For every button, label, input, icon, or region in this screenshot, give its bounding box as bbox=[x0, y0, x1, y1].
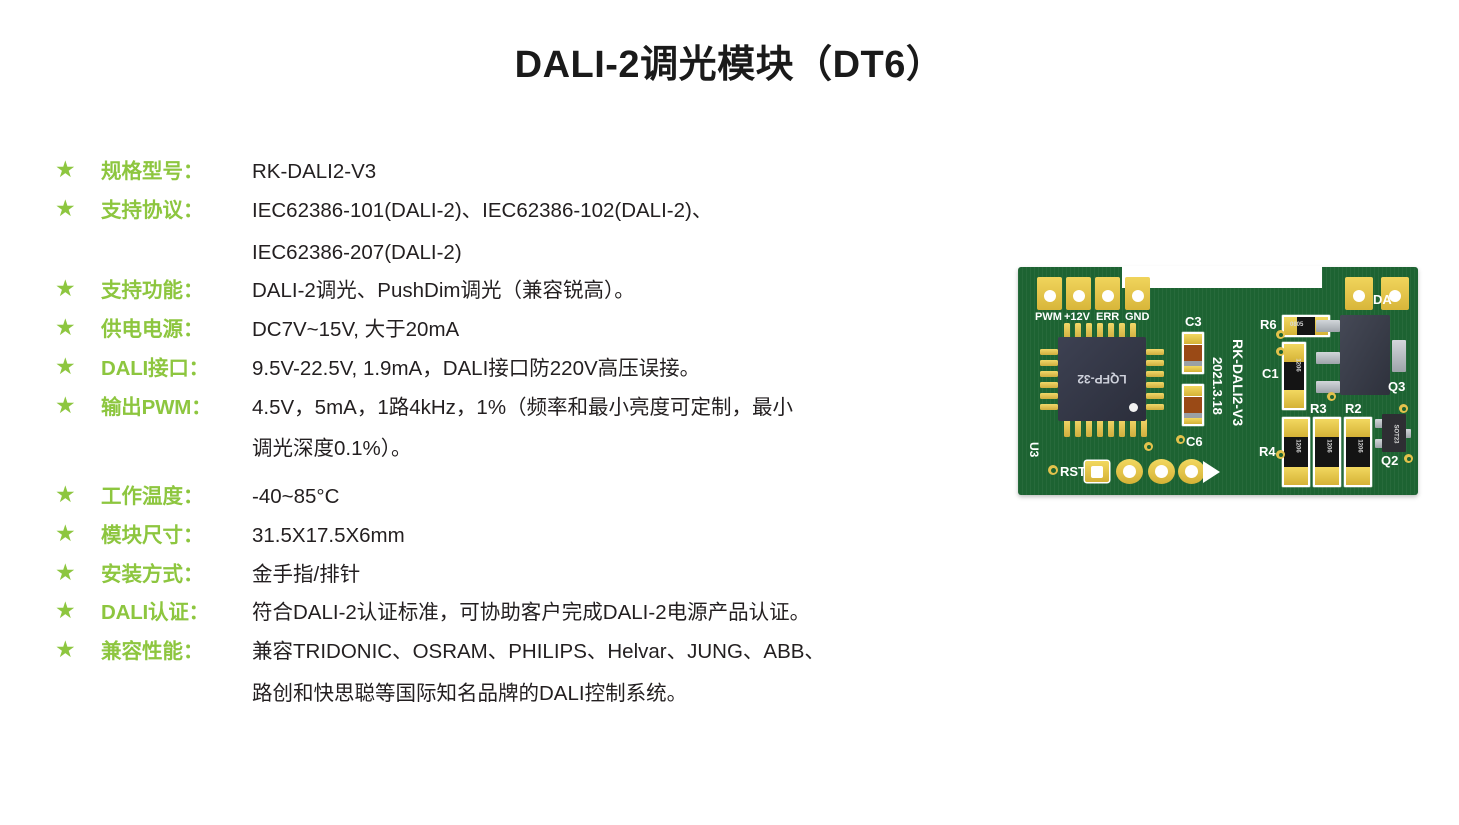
spec-value-line: IEC62386-101(DALI-2)、IEC62386-102(DALI-2… bbox=[252, 195, 1015, 227]
test-point-hole bbox=[1155, 465, 1168, 478]
pad-da-1 bbox=[1345, 277, 1373, 310]
component-pad bbox=[1315, 467, 1339, 485]
component-c1 bbox=[1282, 342, 1306, 410]
via bbox=[1327, 392, 1336, 401]
bullet-cell: ★ bbox=[55, 156, 101, 182]
component-pad bbox=[1284, 467, 1308, 485]
via-hole bbox=[1051, 468, 1056, 473]
chip-leg bbox=[1119, 419, 1125, 437]
pad-gnd bbox=[1125, 277, 1150, 310]
component-pad bbox=[1346, 419, 1370, 437]
spec-label: DALI认证： bbox=[101, 597, 252, 629]
silk-label-q3: Q3 bbox=[1388, 380, 1405, 393]
pad-err bbox=[1095, 277, 1120, 310]
star-icon: ★ bbox=[55, 197, 76, 220]
spec-label: 供电电源： bbox=[101, 314, 252, 346]
page-title: DALI-2调光模块（DT6） bbox=[0, 33, 1459, 88]
silk-label-gnd: GND bbox=[1125, 312, 1149, 323]
star-icon: ★ bbox=[55, 316, 76, 339]
silk-label-c6: C6 bbox=[1186, 435, 1203, 448]
silk-label-r6: R6 bbox=[1260, 318, 1277, 331]
component-code-0805: 0805 bbox=[1290, 322, 1303, 328]
via-hole bbox=[1279, 453, 1283, 457]
spec-value-line: -40~85°C bbox=[252, 481, 1015, 513]
pcb-product-image: PWM +12V ERR GND DA LQFP-32 C3 bbox=[1018, 267, 1418, 495]
spec-row-certification: ★ DALI认证： 符合DALI-2认证标准，可协助客户完成DALI-2电源产品… bbox=[55, 597, 1015, 629]
spec-value-line: DALI-2调光、PushDim调光（兼容锐高）。 bbox=[252, 275, 1015, 307]
silk-label-r4: R4 bbox=[1259, 445, 1276, 458]
component-pad bbox=[1184, 418, 1202, 424]
via bbox=[1276, 347, 1285, 356]
spec-row-dimensions: ★ 模块尺寸： 31.5X17.5X6mm bbox=[55, 520, 1015, 552]
via-hole bbox=[1147, 445, 1151, 449]
via bbox=[1048, 465, 1058, 475]
spec-value: DALI-2调光、PushDim调光（兼容锐高）。 bbox=[252, 275, 1015, 307]
spec-row-model: ★ 规格型号： RK-DALI2-V3 bbox=[55, 156, 1015, 188]
spec-value-line: 路创和快思聪等国际知名品牌的DALI控制系统。 bbox=[252, 678, 1015, 710]
pad-hole bbox=[1044, 290, 1056, 302]
via bbox=[1144, 442, 1153, 451]
chip-leg bbox=[1040, 371, 1058, 377]
spec-row-power: ★ 供电电源： DC7V~15V, 大于20mA bbox=[55, 314, 1015, 346]
spec-value-line: 31.5X17.5X6mm bbox=[252, 520, 1015, 552]
spec-label: 工作温度： bbox=[101, 481, 252, 513]
pad-hole bbox=[1102, 290, 1114, 302]
bullet-cell: ★ bbox=[55, 597, 101, 623]
spec-label: DALI接口： bbox=[101, 353, 252, 385]
silk-label-pwm: PWM bbox=[1035, 312, 1062, 323]
via bbox=[1404, 454, 1413, 463]
component-c3 bbox=[1182, 332, 1204, 374]
component-tab bbox=[1316, 381, 1340, 393]
test-point-hole bbox=[1123, 465, 1136, 478]
component-pad bbox=[1184, 366, 1202, 372]
bullet-cell: ★ bbox=[55, 353, 101, 379]
spec-value: DC7V~15V, 大于20mA bbox=[252, 314, 1015, 346]
component-pad bbox=[1184, 334, 1202, 344]
test-point bbox=[1178, 459, 1205, 484]
component-pad bbox=[1315, 419, 1339, 437]
spec-value: 兼容TRIDONIC、OSRAM、PHILIPS、Helvar、JUNG、ABB… bbox=[252, 636, 1015, 710]
chip-leg bbox=[1040, 404, 1058, 410]
test-point bbox=[1148, 459, 1175, 484]
bullet-cell: ★ bbox=[55, 481, 101, 507]
chip-leg bbox=[1146, 404, 1164, 410]
component-tab bbox=[1316, 320, 1340, 332]
via bbox=[1276, 330, 1285, 339]
spec-row-function: ★ 支持功能： DALI-2调光、PushDim调光（兼容锐高）。 bbox=[55, 275, 1015, 307]
via-hole bbox=[1279, 333, 1283, 337]
spec-value-line: 兼容TRIDONIC、OSRAM、PHILIPS、Helvar、JUNG、ABB… bbox=[252, 636, 1015, 668]
spec-value: RK-DALI2-V3 bbox=[252, 156, 1015, 188]
component-pad bbox=[1284, 390, 1304, 408]
spec-value: 金手指/排针 bbox=[252, 559, 1015, 591]
pcb-top-notch bbox=[1122, 266, 1322, 288]
chip-leg bbox=[1146, 360, 1164, 366]
star-icon: ★ bbox=[55, 355, 76, 378]
chip-leg bbox=[1040, 349, 1058, 355]
bullet-cell: ★ bbox=[55, 520, 101, 546]
silk-label-u3: U3 bbox=[1028, 442, 1040, 457]
component-bridge bbox=[1340, 315, 1390, 395]
spec-value-line: 金手指/排针 bbox=[252, 559, 1015, 591]
silk-label-12v: +12V bbox=[1064, 312, 1090, 323]
spec-row-pwm-output: ★ 输出PWM： 4.5V，5mA，1路4kHz，1%（频率和最小亮度可定制，最… bbox=[55, 392, 1015, 466]
specification-list: ★ 规格型号： RK-DALI2-V3 ★ 支持协议： IEC62386-101… bbox=[55, 156, 1015, 717]
silk-label-rst: RST bbox=[1060, 465, 1086, 478]
chip-leg bbox=[1141, 419, 1147, 437]
component-pad bbox=[1184, 386, 1202, 396]
test-point-rst bbox=[1085, 461, 1109, 482]
component-pad bbox=[1284, 419, 1308, 437]
star-icon: ★ bbox=[55, 522, 76, 545]
component-c6 bbox=[1182, 384, 1204, 426]
spec-label: 安装方式： bbox=[101, 559, 252, 591]
test-point bbox=[1116, 459, 1143, 484]
spec-row-dali-interface: ★ DALI接口： 9.5V-22.5V, 1.9mA，DALI接口防220V高… bbox=[55, 353, 1015, 385]
chip-leg bbox=[1086, 419, 1092, 437]
component-code-c1: 1206 bbox=[1295, 358, 1301, 371]
chip-leg bbox=[1040, 360, 1058, 366]
pad-hole bbox=[1132, 290, 1144, 302]
spec-row-mounting: ★ 安装方式： 金手指/排针 bbox=[55, 559, 1015, 591]
component-tab bbox=[1316, 352, 1340, 364]
chip-leg bbox=[1075, 419, 1081, 437]
mcu-chip: LQFP-32 bbox=[1058, 337, 1146, 421]
bullet-cell: ★ bbox=[55, 314, 101, 340]
silk-label-da: DA bbox=[1373, 293, 1392, 306]
spec-row-compatibility: ★ 兼容性能： 兼容TRIDONIC、OSRAM、PHILIPS、Helvar、… bbox=[55, 636, 1015, 710]
star-icon: ★ bbox=[55, 277, 76, 300]
chip-leg bbox=[1146, 371, 1164, 377]
star-icon: ★ bbox=[55, 561, 76, 584]
spec-value-line: IEC62386-207(DALI-2) bbox=[252, 237, 1015, 269]
spec-row-temperature: ★ 工作温度： -40~85°C bbox=[55, 481, 1015, 513]
silk-label-q2: Q2 bbox=[1381, 454, 1398, 467]
via bbox=[1276, 450, 1285, 459]
spec-value: 9.5V-22.5V, 1.9mA，DALI接口防220V高压误接。 bbox=[252, 353, 1015, 385]
component-body bbox=[1184, 345, 1202, 361]
chip-leg bbox=[1146, 393, 1164, 399]
chip-leg bbox=[1146, 382, 1164, 388]
spec-label: 兼容性能： bbox=[101, 636, 252, 668]
component-code-r2: 1206 bbox=[1357, 439, 1363, 452]
bullet-cell: ★ bbox=[55, 195, 101, 221]
spec-value-line: RK-DALI2-V3 bbox=[252, 156, 1015, 188]
spec-label: 模块尺寸： bbox=[101, 520, 252, 552]
component-code-r3: 1206 bbox=[1326, 439, 1332, 452]
star-icon: ★ bbox=[55, 394, 76, 417]
chip-leg bbox=[1130, 419, 1136, 437]
via bbox=[1399, 404, 1408, 413]
test-point-hole bbox=[1091, 466, 1103, 478]
component-code-r4: 1206 bbox=[1295, 439, 1301, 452]
component-code-q2: SOT23 bbox=[1393, 424, 1399, 443]
spec-label: 规格型号： bbox=[101, 156, 252, 188]
chip-leg bbox=[1146, 349, 1164, 355]
star-icon: ★ bbox=[55, 638, 76, 661]
spec-value: 4.5V，5mA，1路4kHz，1%（频率和最小亮度可定制，最小 调光深度0.1… bbox=[252, 392, 1015, 466]
spec-label: 输出PWM： bbox=[101, 392, 252, 424]
star-icon: ★ bbox=[55, 158, 76, 181]
pad-12v bbox=[1066, 277, 1091, 310]
polarity-triangle-icon bbox=[1203, 461, 1220, 483]
bullet-cell: ★ bbox=[55, 275, 101, 301]
chip-leg bbox=[1040, 382, 1058, 388]
spec-value-line: 4.5V，5mA，1路4kHz，1%（频率和最小亮度可定制，最小 bbox=[252, 392, 1015, 424]
chip-leg bbox=[1108, 419, 1114, 437]
silk-label-c3: C3 bbox=[1185, 315, 1202, 328]
component-pad bbox=[1346, 467, 1370, 485]
component-tab bbox=[1392, 340, 1406, 372]
spec-label: 支持协议： bbox=[101, 195, 252, 227]
pad-pwm bbox=[1037, 277, 1062, 310]
spec-value-line: 9.5V-22.5V, 1.9mA，DALI接口防220V高压误接。 bbox=[252, 353, 1015, 385]
component-body bbox=[1184, 397, 1202, 413]
via bbox=[1176, 435, 1185, 444]
pad-hole bbox=[1073, 290, 1085, 302]
via-hole bbox=[1407, 457, 1411, 461]
bullet-cell: ★ bbox=[55, 559, 101, 585]
silk-label-err: ERR bbox=[1096, 312, 1119, 323]
silk-board-date: 2021.3.18 bbox=[1211, 357, 1224, 415]
star-icon: ★ bbox=[55, 599, 76, 622]
spec-value: IEC62386-101(DALI-2)、IEC62386-102(DALI-2… bbox=[252, 195, 1015, 269]
chip-leg bbox=[1064, 419, 1070, 437]
chip-leg bbox=[1040, 393, 1058, 399]
chip-pin1-marker bbox=[1129, 403, 1138, 412]
spec-value: 符合DALI-2认证标准，可协助客户完成DALI-2电源产品认证。 bbox=[252, 597, 1015, 629]
silk-label-r2: R2 bbox=[1345, 402, 1362, 415]
via-hole bbox=[1179, 438, 1183, 442]
spec-value-line: 调光深度0.1%）。 bbox=[252, 433, 1015, 465]
spec-value-line: DC7V~15V, 大于20mA bbox=[252, 314, 1015, 346]
silk-label-r3: R3 bbox=[1310, 402, 1327, 415]
pad-hole bbox=[1353, 290, 1365, 302]
silk-board-name: RK-DALI2-V3 bbox=[1231, 339, 1245, 426]
via-hole bbox=[1402, 407, 1406, 411]
spec-value: 31.5X17.5X6mm bbox=[252, 520, 1015, 552]
spec-row-protocol: ★ 支持协议： IEC62386-101(DALI-2)、IEC62386-10… bbox=[55, 195, 1015, 269]
star-icon: ★ bbox=[55, 483, 76, 506]
spec-value: -40~85°C bbox=[252, 481, 1015, 513]
test-point-hole bbox=[1185, 465, 1198, 478]
spec-label: 支持功能： bbox=[101, 275, 252, 307]
spec-value-line: 符合DALI-2认证标准，可协助客户完成DALI-2电源产品认证。 bbox=[252, 597, 1015, 629]
chip-leg bbox=[1097, 419, 1103, 437]
bullet-cell: ★ bbox=[55, 636, 101, 662]
bullet-cell: ★ bbox=[55, 392, 101, 418]
via-hole bbox=[1279, 350, 1283, 354]
via-hole bbox=[1330, 395, 1334, 399]
silk-label-c1: C1 bbox=[1262, 367, 1279, 380]
